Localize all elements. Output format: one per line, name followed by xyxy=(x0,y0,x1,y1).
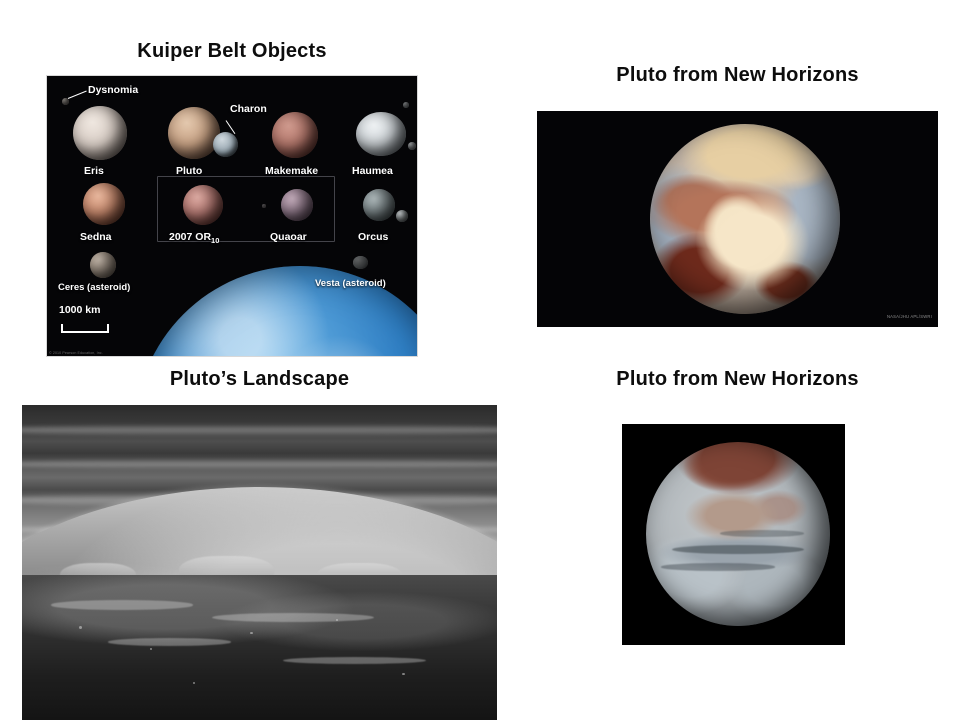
canyon-2 xyxy=(661,563,775,570)
leader-line-dysnomia xyxy=(68,91,87,99)
figure-kuiper-belt-objects: Dysnomia Eris Charon Pluto Makemake Haum… xyxy=(47,76,417,356)
ridge-3 xyxy=(108,638,232,646)
ridge-4 xyxy=(283,657,426,664)
label-charon: Charon xyxy=(230,103,267,115)
label-2007-or10-subscript: 10 xyxy=(211,236,219,245)
body-2007-or10 xyxy=(183,185,223,225)
ridge-1 xyxy=(51,600,194,609)
body-vesta xyxy=(353,256,368,269)
terrain-speck-3 xyxy=(250,632,253,634)
label-makemake: Makemake xyxy=(265,165,318,177)
label-eris: Eris xyxy=(84,165,104,177)
body-ceres xyxy=(90,252,116,278)
label-ceres: Ceres (asteroid) xyxy=(58,282,130,293)
sputnik-planitia-plain xyxy=(22,575,497,720)
panel-title-kuiper-belt-objects: Kuiper Belt Objects xyxy=(47,40,417,63)
canyon-1 xyxy=(672,545,804,554)
body-sedna xyxy=(83,183,125,225)
pluto-globe xyxy=(650,124,840,314)
terrain-speck-2 xyxy=(150,648,152,650)
label-2007-or10: 2007 OR10 xyxy=(169,231,219,245)
figure-plutos-landscape xyxy=(22,405,497,720)
haze-layer-2 xyxy=(22,459,497,469)
moon-haumea-2 xyxy=(408,142,416,150)
body-haumea xyxy=(356,112,406,156)
label-orcus: Orcus xyxy=(358,231,388,243)
label-quaoar: Quaoar xyxy=(270,231,307,243)
body-quaoar xyxy=(281,189,313,221)
image-credit: NASA/JHU APL/SWRI xyxy=(887,314,932,319)
scale-bar xyxy=(61,324,109,333)
figure-copyright: © 2010 Pearson Education, Inc. xyxy=(49,351,103,355)
moon-vanth xyxy=(396,210,408,222)
terrain-speck-4 xyxy=(336,619,338,621)
figure-pluto-new-horizons-bottom xyxy=(622,424,845,645)
label-pluto: Pluto xyxy=(176,165,202,177)
moon-charon xyxy=(213,132,238,157)
panel-title-plutos-landscape: Pluto’s Landscape xyxy=(22,368,497,391)
label-haumea: Haumea xyxy=(352,165,393,177)
moon-weywot xyxy=(262,204,266,208)
label-dysnomia: Dysnomia xyxy=(88,84,138,96)
presentation-slide: Kuiper Belt Objects Dysnomia Eris Charon… xyxy=(0,0,960,720)
body-orcus xyxy=(363,189,395,221)
label-2007-or10-text: 2007 OR xyxy=(169,231,211,243)
haze-layer-1 xyxy=(22,424,497,436)
panel-title-pluto-new-horizons-bottom: Pluto from New Horizons xyxy=(537,368,938,391)
label-vesta: Vesta (asteroid) xyxy=(315,278,386,289)
body-pluto xyxy=(168,107,220,159)
terrain-speck-5 xyxy=(402,673,405,675)
terrain-speck-1 xyxy=(79,626,82,629)
figure-pluto-new-horizons-top: NASA/JHU APL/SWRI xyxy=(537,111,938,327)
pluto-globe-bottom xyxy=(646,442,830,626)
panel-title-pluto-new-horizons-top: Pluto from New Horizons xyxy=(537,64,938,87)
scale-bar-label: 1000 km xyxy=(59,304,100,316)
moon-haumea xyxy=(403,102,409,108)
body-eris xyxy=(73,106,127,160)
canyon-3 xyxy=(720,530,805,536)
body-makemake xyxy=(272,112,318,158)
label-sedna: Sedna xyxy=(80,231,112,243)
